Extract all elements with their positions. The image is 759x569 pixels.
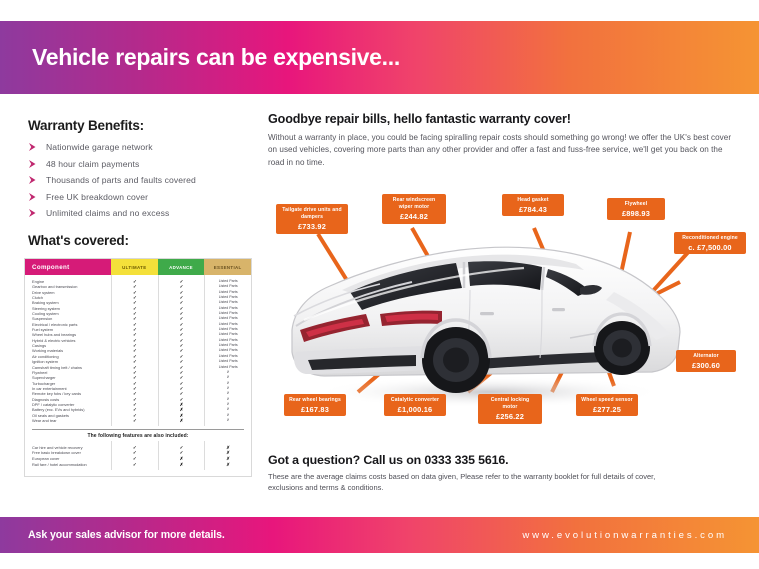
callout-label: Tailgate drive units and dampers [281,207,343,221]
column-header-ultimate: ULTIMATE [111,259,158,275]
callout-catalytic-converter[interactable]: Catalytic converter £1,000.16 [384,394,446,416]
chevron-right-icon [28,175,38,185]
callout-tailgate-drive-units[interactable]: Tailgate drive units and dampers £733.92 [276,204,348,234]
table-header-row: Component ULTIMATE ADVANCE ESSENTIAL [25,259,251,275]
benefits-heading: Warranty Benefits: [28,118,260,133]
whats-covered-heading: What's covered: [28,233,129,248]
coverage-table: Component ULTIMATE ADVANCE ESSENTIAL Eng… [24,258,252,477]
car-illustration [284,234,684,409]
callout-amount: £167.83 [289,406,341,413]
extras-cell-advance: ✗ [180,462,184,468]
intro-section: Goodbye repair bills, hello fantastic wa… [268,112,740,169]
callout-amount: £898.93 [612,210,660,217]
callout-label: Catalytic converter [389,397,441,404]
benefit-label: Unlimited claims and no excess [46,208,169,218]
callout-head-gasket[interactable]: Head gasket £784.43 [502,194,564,216]
table-column-advance: ✓✓✓✓✓✓✓✓✓✓✓✓✓✓✓✓✓✓✓✓✓✓✓✗✗✗✗ [158,275,205,426]
benefit-label: 48 hour claim payments [46,159,139,169]
extras-cell-essential: ✗ [226,462,230,468]
footer-banner: Ask your sales advisor for more details.… [0,517,759,553]
extras-column-essential: ✗✗✗✗ [204,441,251,470]
vehicle-diagram: Tailgate drive units and dampers £733.92… [262,186,759,448]
callout-amount: £784.43 [507,206,559,213]
list-item: 48 hour claim payments [28,159,260,169]
contact-disclaimer: These are the average claims costs based… [268,472,688,494]
list-item: Thousands of parts and faults covered [28,175,260,185]
chevron-right-icon [28,208,38,218]
callout-label: Rear windscreen wiper motor [387,197,441,211]
callout-amount: £733.92 [281,223,343,230]
callout-rear-wheel-bearings[interactable]: Rear wheel bearings £167.83 [284,394,346,416]
flyer-page: Vehicle repairs can be expensive... Warr… [0,0,759,569]
footer-website[interactable]: www.evolutionwarranties.com [522,530,727,541]
table-column-ultimate: ✓✓✓✓✓✓✓✓✓✓✓✓✓✓✓✓✓✓✓✓✓✓✓✓✓✓✓ [111,275,158,426]
callout-reconditioned-engine[interactable]: Reconditioned engine c. £7,500.00 [674,232,746,254]
extras-column-advance: ✓✓✗✗ [158,441,205,470]
list-item: Nationwide garage network [28,142,260,152]
column-header-component: Component [25,259,111,275]
list-item: Free UK breakdown cover [28,192,260,202]
list-item: Unlimited claims and no excess [28,208,260,218]
benefit-label: Thousands of parts and faults covered [46,175,196,185]
table-cell-ultimate: ✓ [133,418,137,423]
extras-cell-ultimate: ✓ [133,462,137,468]
chevron-right-icon [28,192,38,202]
contact-section: Got a question? Call us on 0333 335 5616… [268,453,688,494]
callout-label: Head gasket [507,197,559,204]
benefit-label: Free UK breakdown cover [46,192,148,202]
page-title: Vehicle repairs can be expensive... [0,44,400,71]
table-row-component: Wear and tear [32,418,111,423]
intro-body: Without a warranty in place, you could b… [268,132,740,169]
column-header-advance: ADVANCE [158,259,205,275]
callout-wheel-speed-sensor[interactable]: Wheel speed sensor £277.25 [576,394,638,416]
extras-title: The following features are also included… [25,430,251,441]
callout-amount: £300.60 [681,362,731,369]
callout-alternator[interactable]: Alternator £300.60 [676,350,736,372]
callout-label: Central locking motor [483,397,537,411]
extras-column-components: Car hire and vehicle recoveryFree basic … [25,441,111,470]
extras-column-ultimate: ✓✓✓✓ [111,441,158,470]
chevron-right-icon [28,159,38,169]
benefit-label: Nationwide garage network [46,142,153,152]
callout-flywheel[interactable]: Flywheel £898.93 [607,198,665,220]
benefits-list: Nationwide garage network 48 hour claim … [28,142,260,218]
table-column-essential: Listed PartsListed PartsListed PartsList… [204,275,251,426]
header-banner: Vehicle repairs can be expensive... [0,21,759,94]
callout-amount: £277.25 [581,406,633,413]
extras-row-component: Rail fare / hotel accommodation [32,462,111,468]
table-body: EngineGearbox and transmissionDrive syst… [25,275,251,426]
callout-amount: £244.82 [387,213,441,220]
callout-amount: c. £7,500.00 [679,244,741,251]
callout-amount: £1,000.16 [389,406,441,413]
chevron-right-icon [28,142,38,152]
car-svg [284,234,684,409]
callout-label: Wheel speed sensor [581,397,633,404]
table-cell-advance: ✗ [180,418,184,423]
intro-heading: Goodbye repair bills, hello fantastic wa… [268,112,740,126]
callout-label: Rear wheel bearings [289,397,341,404]
column-header-essential: ESSENTIAL [204,259,251,275]
warranty-benefits-section: Warranty Benefits: Nationwide garage net… [28,118,260,225]
footer-cta: Ask your sales advisor for more details. [28,529,225,541]
table-extras-body: Car hire and vehicle recoveryFree basic … [25,441,251,476]
callout-label: Flywheel [612,201,660,208]
table-column-components: EngineGearbox and transmissionDrive syst… [25,275,111,426]
table-cell-essential: ✗ [227,418,230,423]
callout-amount: £256.22 [483,413,537,420]
contact-heading[interactable]: Got a question? Call us on 0333 335 5616… [268,453,688,467]
callout-rear-windscreen-wiper-motor[interactable]: Rear windscreen wiper motor £244.82 [382,194,446,224]
callout-central-locking-motor[interactable]: Central locking motor £256.22 [478,394,542,424]
callout-label: Reconditioned engine [679,235,741,242]
callout-label: Alternator [681,353,731,360]
